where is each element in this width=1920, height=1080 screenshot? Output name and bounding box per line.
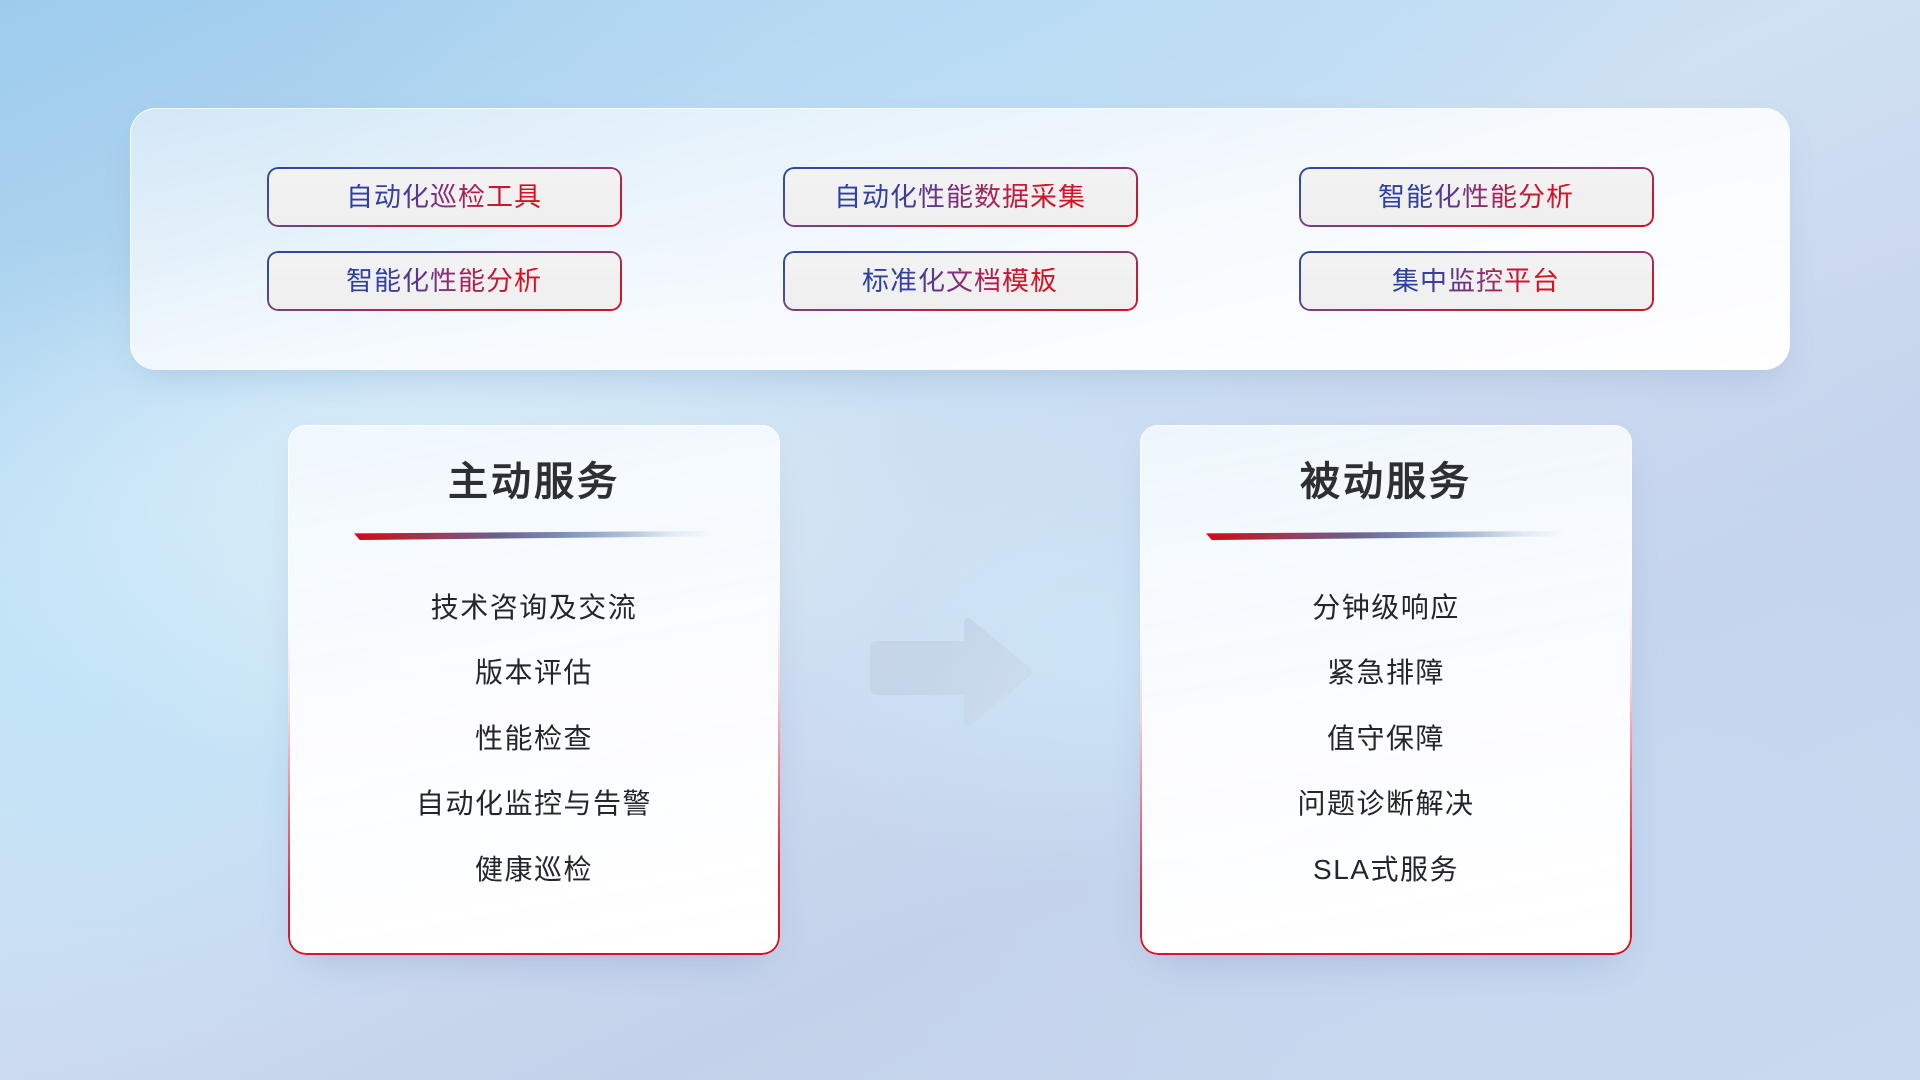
passive-service-card[interactable]: 被动服务 分钟级响应 紧急排障 值守保障 问题诊断解决 SLA式服务 (1140, 425, 1632, 955)
capability-pill-label: 标准化文档模板 (862, 268, 1058, 295)
capability-pill-5[interactable]: 标准化文档模板 (783, 251, 1138, 311)
capability-pill-label: 智能化性能分析 (1378, 184, 1574, 211)
list-item: 自动化监控与告警 (416, 790, 652, 818)
capability-pill-label: 自动化巡检工具 (346, 184, 542, 211)
capability-pill-4[interactable]: 智能化性能分析 (267, 251, 622, 311)
title-divider (354, 531, 714, 540)
list-item: 问题诊断解决 (1297, 790, 1474, 818)
arrow-right-icon (866, 613, 1034, 731)
active-service-title: 主动服务 (448, 459, 620, 505)
title-divider (1206, 531, 1566, 540)
list-item: 版本评估 (475, 659, 593, 687)
capability-pill-3[interactable]: 智能化性能分析 (1299, 167, 1654, 227)
capability-pill-label: 集中监控平台 (1392, 268, 1560, 295)
passive-service-card-body: 被动服务 分钟级响应 紧急排障 值守保障 问题诊断解决 SLA式服务 (1140, 425, 1632, 955)
list-item: 分钟级响应 (1312, 594, 1460, 622)
active-service-list: 技术咨询及交流 版本评估 性能检查 自动化监控与告警 健康巡检 (288, 550, 780, 955)
capability-pill-6[interactable]: 集中监控平台 (1299, 251, 1654, 311)
list-item: 性能检查 (475, 725, 593, 753)
active-service-card[interactable]: 主动服务 技术咨询及交流 版本评估 性能检查 自动化监控与告警 健康巡检 (288, 425, 780, 955)
list-item: SLA式服务 (1313, 856, 1459, 884)
capability-panel: 自动化巡检工具 自动化性能数据采集 智能化性能分析 智能化性能分析 标准化文档模… (130, 108, 1790, 370)
slide-canvas: 自动化巡检工具 自动化性能数据采集 智能化性能分析 智能化性能分析 标准化文档模… (0, 0, 1920, 1080)
list-item: 紧急排障 (1327, 659, 1445, 687)
capability-pill-label: 自动化性能数据采集 (834, 184, 1086, 211)
capability-pill-1[interactable]: 自动化巡检工具 (267, 167, 622, 227)
passive-service-list: 分钟级响应 紧急排障 值守保障 问题诊断解决 SLA式服务 (1140, 550, 1632, 955)
passive-service-title: 被动服务 (1300, 459, 1472, 505)
list-item: 健康巡检 (475, 856, 593, 884)
list-item: 技术咨询及交流 (431, 594, 638, 622)
capability-pill-grid: 自动化巡检工具 自动化性能数据采集 智能化性能分析 智能化性能分析 标准化文档模… (130, 167, 1790, 311)
capability-pill-2[interactable]: 自动化性能数据采集 (783, 167, 1138, 227)
capability-pill-label: 智能化性能分析 (346, 268, 542, 295)
active-service-card-body: 主动服务 技术咨询及交流 版本评估 性能检查 自动化监控与告警 健康巡检 (288, 425, 780, 955)
list-item: 值守保障 (1327, 725, 1445, 753)
